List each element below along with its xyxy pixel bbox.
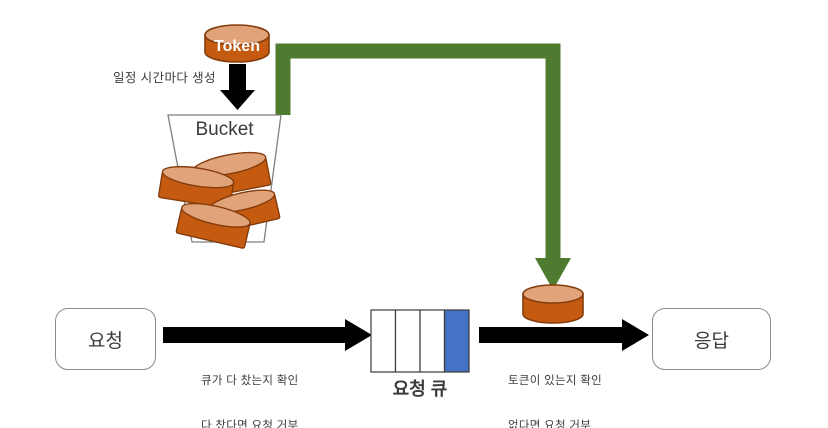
queue-check-annotation: 큐가 다 찼는지 확인 다 찼다면 요청 거부 [201,345,299,428]
bucket-label: Bucket [168,118,281,142]
request-node-label: 요청 [88,326,123,353]
generation-annotation: 일정 시간마다 생성 [113,70,216,86]
token-check-line-2: 없다면 요청 거부 [508,419,602,428]
arrow-down-icon [220,64,255,110]
request-node[interactable]: 요청 [55,308,156,370]
request-queue [371,310,469,372]
elbow-arrow-icon [283,51,571,290]
response-node-label: 응답 [694,326,729,353]
token-label: Token [205,37,269,57]
response-node[interactable]: 응답 [652,308,771,370]
consumed-token-icon [523,285,583,323]
queue-check-line-2: 다 찼다면 요청 거부 [201,419,299,428]
diagram-canvas: Token Bucket 일정 시간마다 생성 요청 응답 큐가 다 찼는지 확… [0,0,828,428]
token-check-annotation: 토큰이 있는지 확인 없다면 요청 거부 [508,345,602,428]
request-queue-label: 요청 큐 [340,378,500,401]
token-check-line-1: 토큰이 있는지 확인 [508,374,602,389]
queue-check-line-1: 큐가 다 찼는지 확인 [201,374,299,389]
